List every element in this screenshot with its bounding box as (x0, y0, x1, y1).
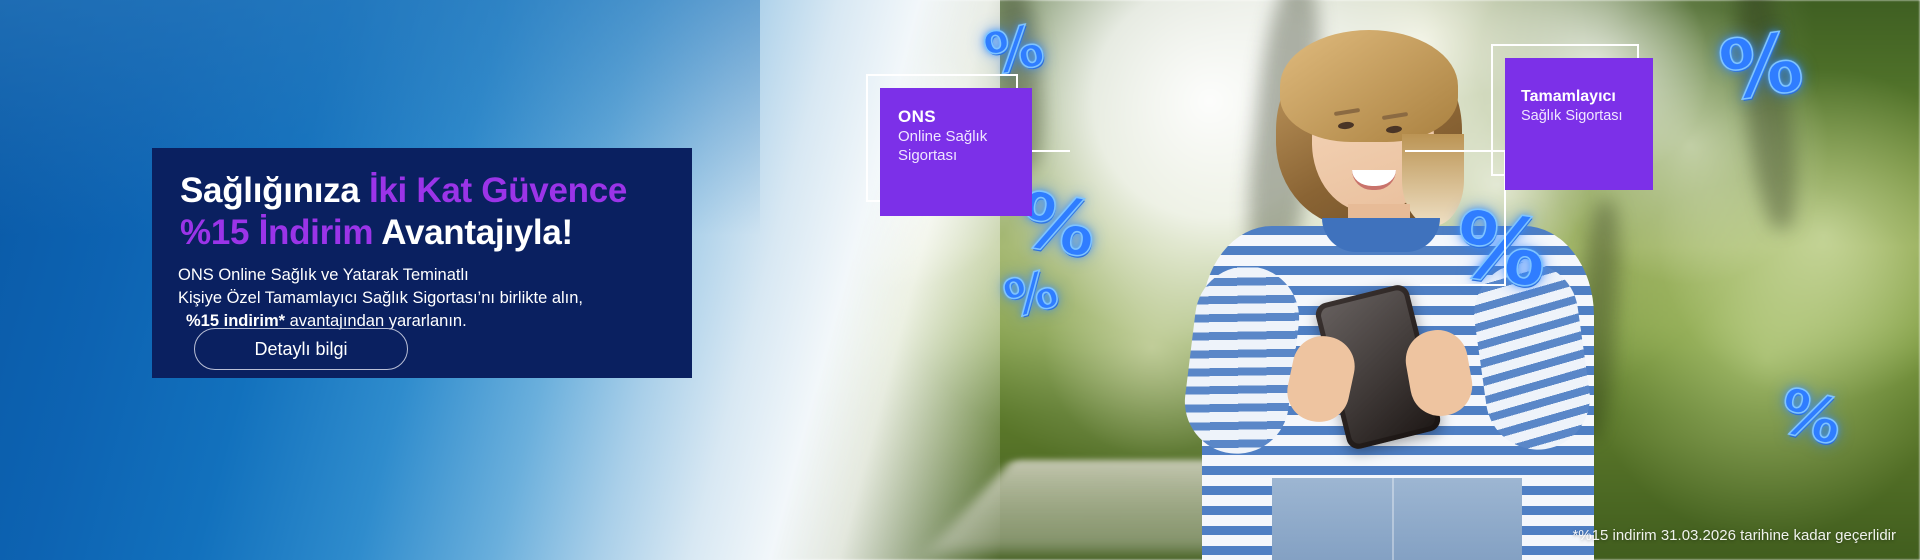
ons-card-subtitle-line2: Sigortası (898, 146, 1032, 165)
connector-line (1405, 150, 1505, 152)
ons-card-title: ONS (898, 106, 1032, 127)
connector-line (1420, 284, 1506, 286)
jeans (1272, 478, 1522, 560)
shirt-collar (1322, 218, 1440, 252)
body-line-2: Kişiye Özel Tamamlayıcı Sağlık Sigortası… (178, 287, 583, 310)
detayli-bilgi-button[interactable]: Detaylı bilgi (194, 328, 408, 370)
headline-line1-white: Sağlığınıza (180, 171, 369, 210)
promo-banner: % % % % % % ONS Online Sağlık Sigortası … (0, 0, 1920, 560)
ons-card-subtitle-line1: Online Sağlık (898, 127, 1032, 146)
headline-line2-accent: %15 İndirim (180, 213, 373, 252)
body-line-1: ONS Online Sağlık ve Yatarak Teminatlı (178, 264, 583, 287)
headline: Sağlığınıza İki Kat Güvence %15 İndirim … (180, 170, 627, 254)
percent-icon: % (1714, 15, 1809, 121)
hair-front (1280, 30, 1458, 142)
disclaimer-text: *%15 indirim 31.03.2026 tarihine kadar g… (1572, 527, 1896, 544)
body-copy: ONS Online Sağlık ve Yatarak Teminatlı K… (178, 264, 583, 333)
tamamlayici-card-subtitle: Sağlık Sigortası (1521, 107, 1653, 126)
product-card-ons[interactable]: ONS Online Sağlık Sigortası (880, 88, 1032, 216)
tamamlayici-card-title: Tamamlayıcı (1521, 86, 1653, 107)
percent-icon: % (1448, 190, 1554, 309)
product-card-tamamlayici[interactable]: Tamamlayıcı Sağlık Sigortası (1505, 58, 1653, 190)
headline-line2-white: Avantajıyla! (373, 213, 573, 252)
headline-line1-accent: İki Kat Güvence (369, 171, 627, 210)
hair-tip (1402, 134, 1464, 226)
